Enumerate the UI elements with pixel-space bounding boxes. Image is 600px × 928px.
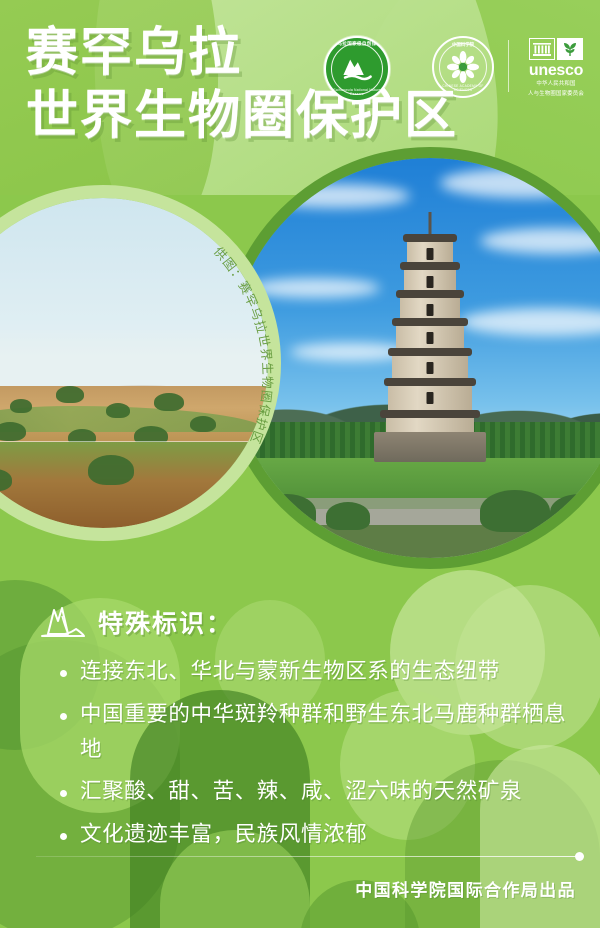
list-item: 连接东北、华北与蒙新生物区系的生态纽带: [58, 654, 570, 689]
reserve-seal-logo: 赛罕乌拉国家级自然保护区 Saihanwula National Nature …: [324, 36, 390, 102]
cas-english-text: CHINESE ACADEMY OF SCIENCES: [434, 84, 492, 92]
reserve-seal-chinese-text: 赛罕乌拉国家级自然保护区: [326, 41, 388, 47]
left-photo-landscape: [0, 198, 268, 528]
main-photo-pagoda: [230, 158, 600, 558]
unesco-temple-icon: [529, 38, 555, 60]
poster-title: 赛罕乌拉 世界生物圈保护区: [26, 26, 458, 144]
footer-producer-text: 中国科学院国际合作局出品: [355, 876, 576, 901]
unesco-chinese-line-1: 中华人民共和国: [522, 81, 590, 89]
unesco-chinese-line-2: 人与生物圈国家委员会: [522, 91, 590, 99]
content-section: 特殊标识： 连接东北、华北与蒙新生物区系的生态纽带 中国重要的中华斑羚种群和野生…: [0, 600, 600, 860]
pagoda-photo-illustration: [230, 158, 600, 558]
unesco-logo: unesco 中华人民共和国 人与生物圈国家委员会: [522, 38, 590, 99]
list-item: 汇聚酸、甜、苦、辣、咸、涩六味的天然矿泉: [58, 774, 570, 809]
logo-divider: [508, 40, 509, 92]
title-line-1: 赛罕乌拉: [26, 26, 458, 81]
footer-dot: [575, 852, 584, 861]
footer: 中国科学院国际合作局出品: [0, 838, 600, 928]
landscape-foreground: [0, 442, 268, 528]
reserve-seal-english-text: Saihanwula National Nature Reserve: [326, 88, 388, 96]
poster-root: 赛罕乌拉 世界生物圈保护区 赛罕乌拉国家级自然保护区 Saihanwula Na…: [0, 0, 600, 928]
list-item: 中国重要的中华斑羚种群和野生东北马鹿种群栖息地: [58, 697, 570, 767]
unesco-biosphere-leaf-icon: [557, 38, 583, 60]
special-features-list: 连接东北、华北与蒙新生物区系的生态纽带 中国重要的中华斑羚种群和野生东北马鹿种群…: [58, 654, 570, 852]
reserve-seal-circle: 赛罕乌拉国家级自然保护区 Saihanwula National Nature …: [324, 36, 390, 102]
landscape-photo-illustration: [0, 198, 268, 528]
photo-composition: [0, 150, 600, 600]
title-line-2: 世界生物圈保护区: [26, 89, 458, 144]
unesco-wordmark: unesco: [522, 63, 590, 79]
chinese-academy-of-sciences-logo: 中国科学院 CHINESE ACADEMY OF SCIENCES: [432, 36, 494, 98]
footer-divider: [36, 856, 578, 857]
cas-seal-circle: 中国科学院 CHINESE ACADEMY OF SCIENCES: [432, 36, 494, 98]
pagoda-structure: [370, 212, 490, 462]
mountain-peaks-icon: [38, 604, 86, 640]
section-header: 特殊标识：: [38, 604, 570, 640]
cas-chinese-text: 中国科学院: [434, 42, 492, 48]
unesco-emblems: [522, 38, 590, 60]
section-title: 特殊标识：: [98, 604, 233, 640]
